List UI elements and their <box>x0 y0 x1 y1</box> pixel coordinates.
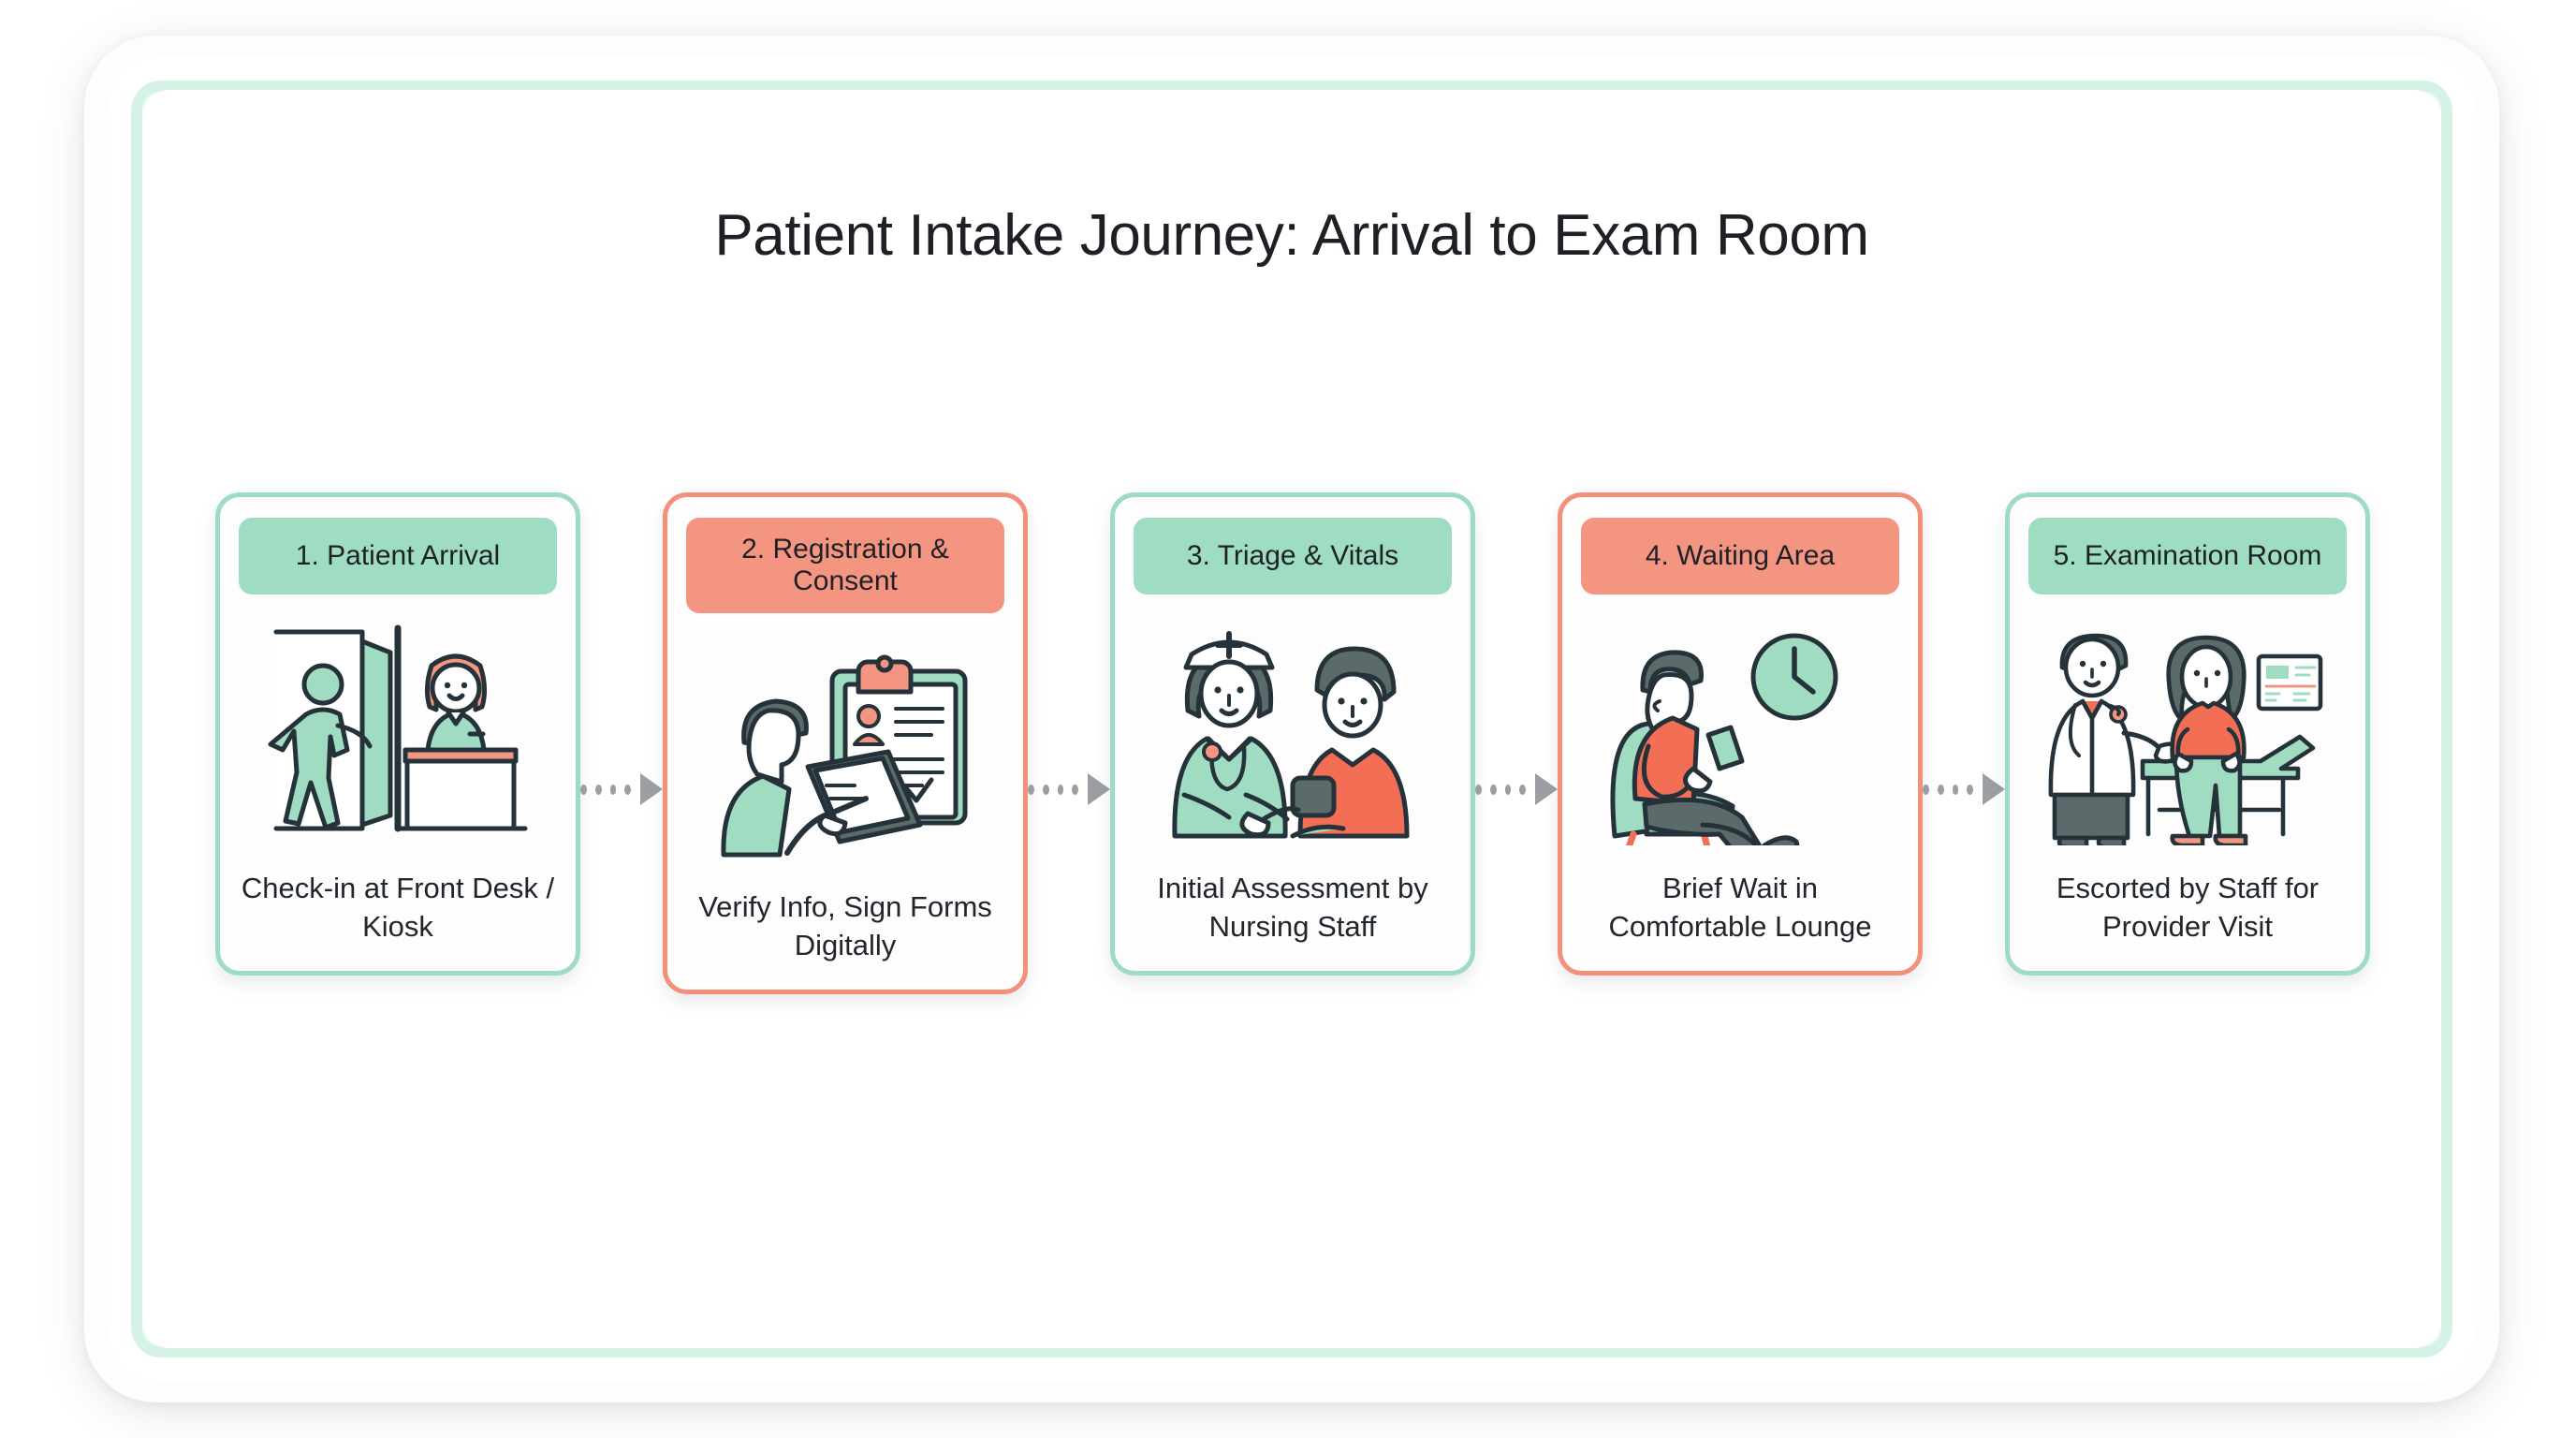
connector-dot <box>1043 785 1049 795</box>
flow-step-caption-4: Brief Wait in Comfortable Lounge <box>1581 870 1899 946</box>
flow-step-card-4[interactable]: 4. Waiting Area <box>1558 492 1923 976</box>
flow-step-header-1: 1. Patient Arrival <box>239 518 557 594</box>
page-title: Patient Intake Journey: Arrival to Exam … <box>142 202 2441 269</box>
tablet-device-frame: Patient Intake Journey: Arrival to Exam … <box>84 36 2499 1402</box>
flow-connector-3-4 <box>1475 773 1558 805</box>
flow-step-header-3: 3. Triage & Vitals <box>1134 518 1452 594</box>
connector-dot <box>624 785 631 795</box>
connector-dot <box>1967 785 1973 795</box>
connector-dot <box>1923 785 1929 795</box>
arrow-right-icon <box>640 773 663 805</box>
flow-step-caption-3: Initial Assessment by Nursing Staff <box>1134 870 1452 946</box>
flow-step-card-3[interactable]: 3. Triage & Vitals <box>1110 492 1475 976</box>
flow-connector-4-5 <box>1923 773 2005 805</box>
flow-connector-2-3 <box>1028 773 1110 805</box>
registration-consent-illustration <box>695 630 995 864</box>
flow-step-header-4: 4. Waiting Area <box>1581 518 1899 594</box>
flow-step-caption-2: Verify Info, Sign Forms Digitally <box>686 888 1004 965</box>
flow-step-card-1[interactable]: 1. Patient Arrival <box>215 492 580 976</box>
arrow-right-icon <box>1983 773 2005 805</box>
arrow-right-icon <box>1088 773 1110 805</box>
flow-step-card-2[interactable]: 2. Registration & Consent <box>663 492 1028 994</box>
flow-step-card-5[interactable]: 5. Examination Room <box>2005 492 2370 976</box>
connector-dot <box>1953 785 1959 795</box>
tablet-screen: Patient Intake Journey: Arrival to Exam … <box>142 90 2441 1348</box>
examination-room-illustration <box>2038 611 2337 845</box>
connector-dot <box>1475 785 1482 795</box>
arrow-right-icon <box>1535 773 1558 805</box>
connector-dot <box>1938 785 1944 795</box>
triage-vitals-illustration <box>1143 611 1442 845</box>
patient-arrival-illustration <box>248 611 548 845</box>
connector-dot <box>1058 785 1064 795</box>
connector-dot <box>610 785 617 795</box>
flow-step-caption-1: Check-in at Front Desk / Kiosk <box>239 870 557 946</box>
process-flow-diagram: 1. Patient Arrival <box>215 492 2368 1176</box>
connector-dot <box>595 785 602 795</box>
flow-step-caption-5: Escorted by Staff for Provider Visit <box>2028 870 2347 946</box>
connector-dot <box>1072 785 1078 795</box>
connector-dot <box>1490 785 1497 795</box>
flow-step-header-5: 5. Examination Room <box>2028 518 2347 594</box>
flow-connector-1-2 <box>580 773 663 805</box>
flow-step-header-2: 2. Registration & Consent <box>686 518 1004 613</box>
connector-dot <box>1505 785 1512 795</box>
connector-dot <box>580 785 587 795</box>
connector-dot <box>1028 785 1034 795</box>
connector-dot <box>1519 785 1526 795</box>
waiting-area-illustration <box>1590 611 1890 845</box>
